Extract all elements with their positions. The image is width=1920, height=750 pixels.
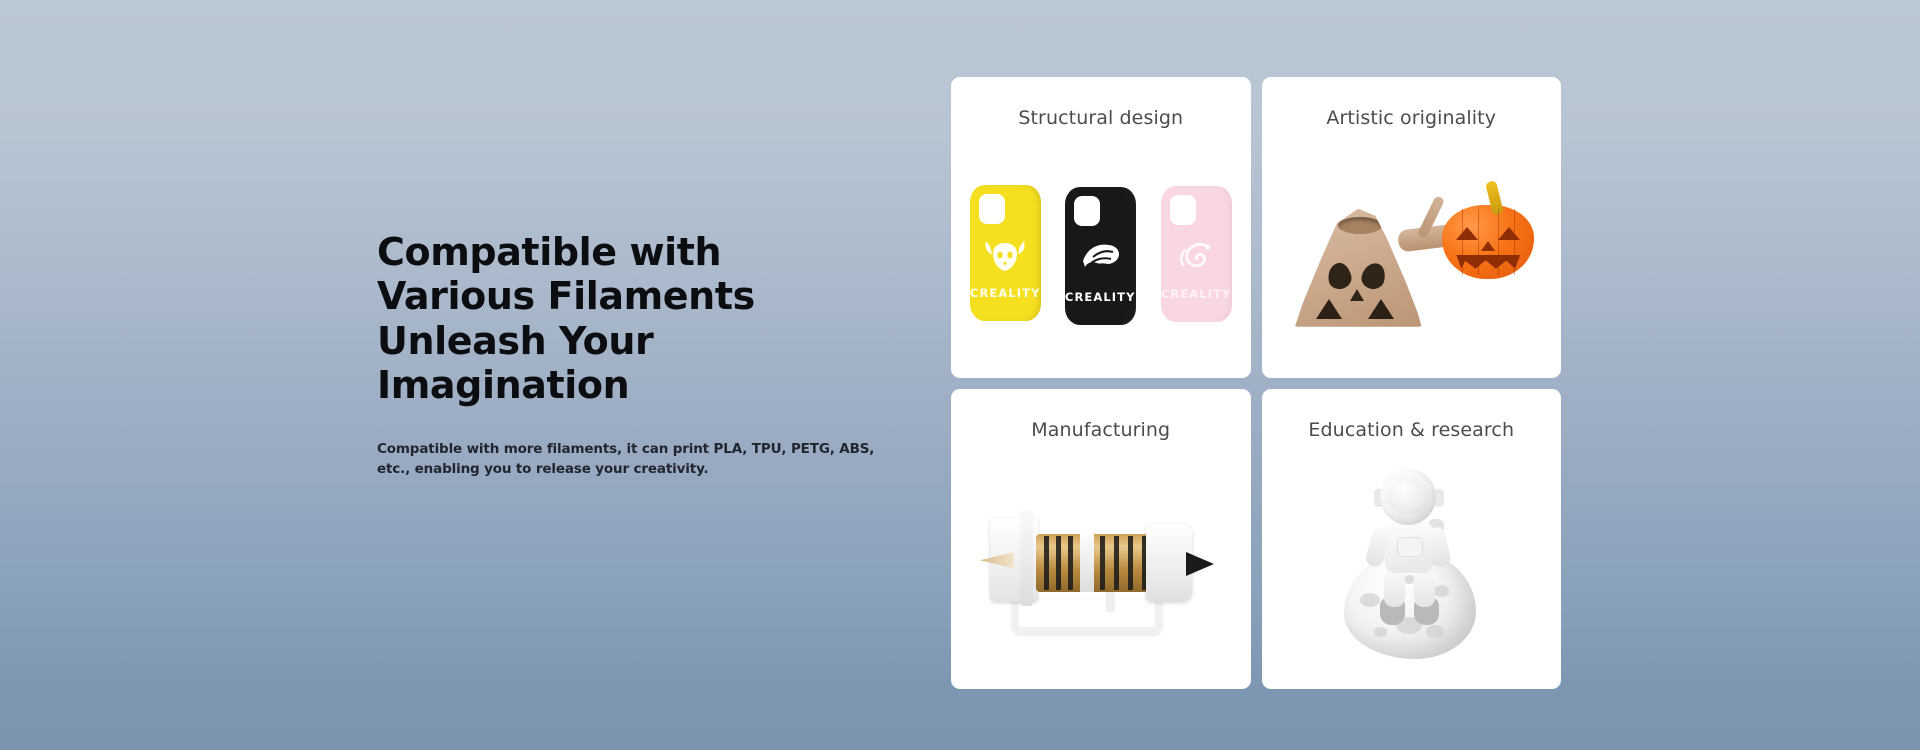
engine-blade <box>1068 536 1073 590</box>
astronaut-chest-panel <box>1397 537 1423 557</box>
skull-eye-left <box>1326 261 1354 291</box>
engine-fan-fin <box>1020 510 1033 606</box>
engine-blade <box>1128 536 1133 590</box>
camera-cutout <box>1170 195 1196 225</box>
skull-nose <box>1350 289 1364 301</box>
engine-blade <box>1044 536 1049 590</box>
engine-blade <box>1114 536 1119 590</box>
feature-card-manufacturing[interactable]: Manufacturing <box>951 389 1251 690</box>
engine-blade <box>1056 536 1061 590</box>
feature-card-education-research[interactable]: Education & research <box>1262 389 1562 690</box>
engine-stand <box>1012 600 1162 634</box>
pumpkin-nose <box>1481 241 1495 251</box>
abstract-swirl-icon <box>1077 239 1123 275</box>
black-phone-case: CREALITY <box>1065 187 1136 325</box>
card-artwork-halloween-print <box>1262 128 1562 378</box>
pink-phone-case: CREALITY <box>1161 186 1232 322</box>
jack-o-lantern <box>1442 205 1534 279</box>
moon-crater <box>1360 593 1380 607</box>
skull-teeth-gap-left <box>1316 299 1342 319</box>
pumpkin-eye-right <box>1498 227 1520 240</box>
hero-description: Compatible with more filaments, it can p… <box>377 440 897 480</box>
camera-cutout <box>979 194 1005 224</box>
dragon-swirl-icon <box>1173 238 1219 274</box>
moon-crater <box>1426 625 1444 638</box>
card-title-artistic-originality: Artistic originality <box>1326 109 1496 128</box>
engine-compressor-core <box>1036 534 1154 592</box>
card-title-education-research: Education & research <box>1308 421 1514 440</box>
bull-skull-icon <box>982 237 1028 273</box>
card-artwork-jet-engine <box>951 440 1251 690</box>
moon-crater <box>1374 627 1387 637</box>
pumpkin-stem <box>1485 180 1504 216</box>
engine-exhaust-nozzle <box>1186 552 1214 576</box>
skull-teeth-gap-right <box>1368 299 1394 319</box>
moon-crater <box>1434 585 1449 597</box>
astronaut-on-moon-model <box>1336 469 1486 659</box>
card-artwork-phone-cases: CREALITY CREALITY <box>951 128 1251 378</box>
card-title-manufacturing: Manufacturing <box>1031 421 1170 440</box>
phone-case-group: CREALITY CREALITY <box>969 185 1233 331</box>
halloween-scene <box>1286 173 1536 333</box>
brand-label: CREALITY <box>1065 290 1136 304</box>
page-title: Compatible with Various Filaments Unleas… <box>377 230 897 408</box>
skull-eye-right <box>1360 261 1388 291</box>
hero-copy-block: Compatible with Various Filaments Unleas… <box>377 230 897 480</box>
camera-cutout <box>1074 196 1100 226</box>
engine-blade <box>1100 536 1105 590</box>
brand-label: CREALITY <box>970 286 1041 300</box>
turbofan-engine-model <box>986 504 1216 634</box>
card-artwork-astronaut <box>1262 440 1562 690</box>
feature-card-structural-design[interactable]: Structural design CREALITY <box>951 77 1251 378</box>
helmet-visor <box>1387 478 1429 514</box>
card-title-structural-design: Structural design <box>1018 109 1183 128</box>
astronaut-helmet <box>1380 469 1436 525</box>
stump-opening <box>1338 217 1382 234</box>
yellow-phone-case: CREALITY <box>970 185 1041 321</box>
feature-card-grid: Structural design CREALITY <box>951 77 1561 689</box>
skull-tree-stump <box>1292 209 1424 327</box>
pumpkin-eye-left <box>1456 227 1478 240</box>
engine-white-band <box>1080 534 1094 592</box>
astronaut-leg-left <box>1384 569 1405 607</box>
brand-label: CREALITY <box>1161 287 1232 301</box>
astronaut-leg-right <box>1414 569 1435 607</box>
hero-section: Compatible with Various Filaments Unleas… <box>0 0 1920 750</box>
feature-card-artistic-originality[interactable]: Artistic originality <box>1262 77 1562 378</box>
pumpkin-mouth <box>1456 255 1520 269</box>
